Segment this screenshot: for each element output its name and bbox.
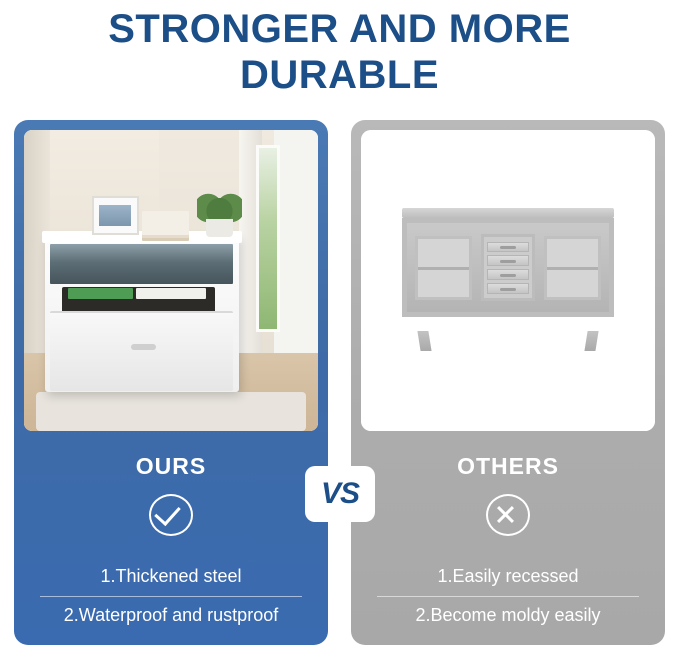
filing-cabinet-dark-band [50, 244, 232, 283]
others-title: OTHERS [457, 453, 559, 480]
green-folder [68, 288, 133, 299]
sideboard-leg [585, 331, 599, 351]
x-circle-icon [486, 494, 530, 536]
picture-frame-decor [92, 196, 139, 235]
plant-pot-decor [206, 219, 232, 237]
list-item: 2.Waterproof and rustproof [40, 597, 302, 635]
sideboard-leg [417, 331, 431, 351]
vs-badge-label: VS [321, 477, 359, 511]
filing-cabinet-open-drawer [50, 311, 232, 391]
sideboard-left-shelves [415, 236, 471, 300]
ours-photo-scene [24, 130, 318, 431]
sideboard-drawer [487, 269, 529, 280]
sideboard-top [402, 208, 614, 218]
page-title-line-1: STRONGER AND MORE [0, 6, 679, 52]
sideboard-drawer [487, 242, 529, 253]
white-folder [136, 288, 207, 299]
page-title-line-2: DURABLE [0, 52, 679, 98]
vs-badge: VS [305, 466, 375, 522]
room-rug [36, 392, 306, 431]
sideboard-drawer [487, 283, 529, 294]
others-product-photo [361, 130, 655, 431]
ours-title: OURS [136, 453, 206, 480]
sideboard-shelf [418, 267, 468, 270]
list-item: 1.Easily recessed [377, 558, 639, 597]
wooden-sideboard [402, 208, 614, 334]
list-item: 2.Become moldy easily [377, 597, 639, 635]
others-photo-scene [361, 130, 655, 431]
sideboard-shelf [547, 267, 597, 270]
check-circle-icon [149, 494, 193, 536]
ours-product-photo [24, 130, 318, 431]
comparison-panels: OURS 1.Thickened steel 2.Waterproof and … [14, 120, 665, 655]
ours-bullet-list: 1.Thickened steel 2.Waterproof and rustp… [40, 558, 302, 635]
sideboard-drawer-stack [481, 234, 535, 301]
panel-others: OTHERS 1.Easily recessed 2.Become moldy … [351, 120, 665, 645]
room-window-secondary [256, 145, 280, 332]
room-window-frame [274, 130, 318, 371]
sideboard-drawer [487, 255, 529, 266]
panel-ours: OURS 1.Thickened steel 2.Waterproof and … [14, 120, 328, 645]
sideboard-right-shelves [544, 236, 600, 300]
check-glyph [154, 499, 181, 526]
others-bullet-list: 1.Easily recessed 2.Become moldy easily [377, 558, 639, 635]
book-stack-decor [142, 211, 189, 235]
page-title: STRONGER AND MORE DURABLE [0, 0, 679, 98]
sideboard-case [402, 218, 614, 317]
list-item: 1.Thickened steel [40, 558, 302, 597]
